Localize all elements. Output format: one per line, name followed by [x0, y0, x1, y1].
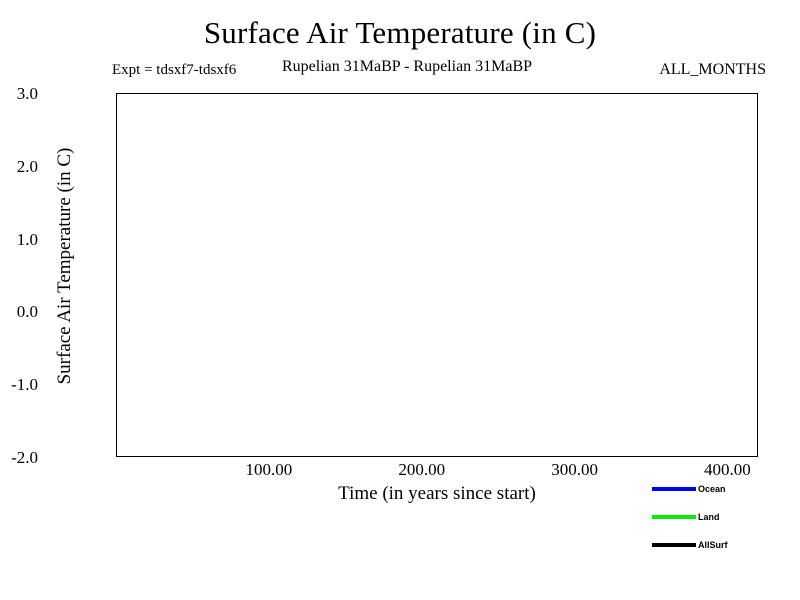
subtitle-row: Expt = tdsxf7-tdsxf6 Rupelian 31MaBP - R… [112, 58, 772, 80]
x-tick-label: 200.00 [372, 461, 472, 478]
x-tick-label: 100.00 [219, 461, 319, 478]
y-tick-label: 2.0 [0, 158, 38, 175]
legend-label: AllSurf [698, 536, 728, 554]
legend-item-land[interactable]: Land [652, 508, 800, 526]
legend-swatch-icon [652, 515, 696, 519]
y-tick-label: -2.0 [0, 449, 38, 466]
legend-item-ocean[interactable]: Ocean [652, 480, 800, 498]
legend-item-allsurf[interactable]: AllSurf [652, 536, 800, 554]
chart-page: Surface Air Temperature (in C) Expt = td… [0, 0, 800, 600]
legend-label: Land [698, 508, 720, 526]
y-tick-label: 3.0 [0, 85, 38, 102]
x-tick-label: 300.00 [525, 461, 625, 478]
y-tick-label: 1.0 [0, 231, 38, 248]
y-tick-label: -1.0 [0, 376, 38, 393]
period-label: Rupelian 31MaBP - Rupelian 31MaBP [282, 58, 532, 76]
legend-swatch-icon [652, 487, 696, 491]
y-tick-label: 0.0 [0, 303, 38, 320]
legend-swatch-icon [652, 543, 696, 547]
legend: OceanLandAllSurf [652, 480, 800, 560]
months-label: ALL_MONTHS [659, 61, 766, 79]
experiment-label: Expt = tdsxf7-tdsxf6 [112, 62, 236, 79]
legend-label: Ocean [698, 480, 726, 498]
page-title: Surface Air Temperature (in C) [0, 16, 800, 50]
x-tick-label: 400.00 [677, 461, 777, 478]
plot-frame [116, 93, 758, 457]
y-axis-title: Surface Air Temperature (in C) [54, 66, 76, 466]
plot-area [116, 93, 758, 457]
